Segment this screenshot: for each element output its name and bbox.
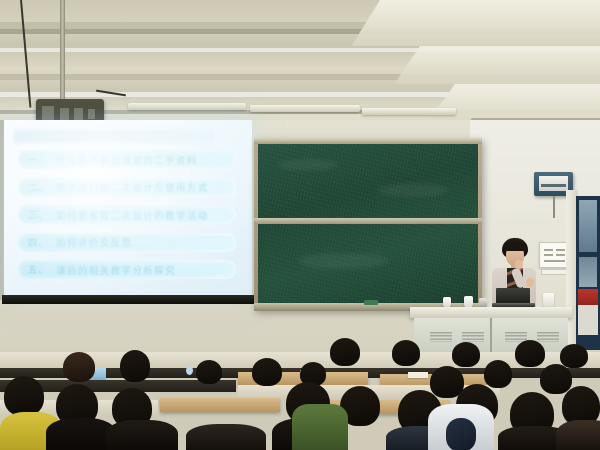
student-head xyxy=(560,344,588,368)
slide-row-text: 如何评价及反思 xyxy=(56,235,236,249)
laptop-screen xyxy=(496,288,530,304)
chalk-smudge xyxy=(378,183,448,197)
student-head xyxy=(392,340,420,366)
slide-row-number: 一、 xyxy=(28,153,48,166)
chalk-smudge xyxy=(298,253,388,269)
ceiling-soffit-right-2 xyxy=(394,46,600,84)
student-head xyxy=(120,350,150,382)
paper-sheet xyxy=(408,372,428,378)
student-head xyxy=(330,338,360,366)
thermos-cup xyxy=(543,293,554,308)
door-window-lower xyxy=(579,257,597,287)
chalkboard-clip xyxy=(364,300,378,305)
slide-row-text: 什么是多参加课堂的二手资料 xyxy=(56,153,236,167)
chalk-ledge xyxy=(254,218,482,224)
slide-row-text: 教学素材的二次设计与使用方式 xyxy=(56,180,236,194)
student-torso xyxy=(106,420,178,450)
wall-notice-poster-secondary xyxy=(541,269,569,275)
slide-row: 一、 什么是多参加课堂的二手资料 xyxy=(18,150,236,169)
slide-row: 二、 教学素材的二次设计与使用方式 xyxy=(18,178,236,197)
presenter-fringe xyxy=(503,242,527,251)
slide-row: 三、 如何更有效二次设计的教学活动 xyxy=(18,205,236,224)
student-head xyxy=(540,364,572,394)
slide-row-number: 二、 xyxy=(28,181,48,194)
slide-row: 五、 课后的相关教学分析探究 xyxy=(18,260,236,279)
speaker-grille xyxy=(541,184,566,187)
student-head xyxy=(4,376,44,416)
slide-title-bar xyxy=(14,130,214,143)
screen-weighted-bottom-bar xyxy=(2,295,254,304)
slide-row-number: 三、 xyxy=(28,208,48,221)
poster-line xyxy=(544,260,565,262)
presenter-hand xyxy=(526,278,534,287)
student-torso xyxy=(186,424,266,450)
slide-row-number: 四、 xyxy=(28,236,48,249)
door-window-upper xyxy=(579,200,597,252)
podium-counter-top xyxy=(410,307,572,318)
projector-vent-1 xyxy=(60,108,69,120)
poster-line xyxy=(544,254,553,256)
student-head xyxy=(484,360,512,388)
cabinet-vent xyxy=(537,332,559,342)
ceiling-soffit-right xyxy=(351,0,600,46)
poster-line xyxy=(556,254,565,256)
door-lower-panel xyxy=(578,305,598,335)
fluorescent-light-tube-2 xyxy=(250,105,360,112)
hair-clip xyxy=(186,366,193,375)
speaker-wire xyxy=(553,196,555,218)
slide-row-text: 如何更有效二次设计的教学活动 xyxy=(56,208,236,222)
presenter-hand-microphone xyxy=(515,260,523,269)
slide-row-number: 五、 xyxy=(28,263,48,276)
chalk-smudge xyxy=(278,159,338,171)
poster-line xyxy=(556,249,565,251)
projector-mount-pole xyxy=(60,0,65,100)
student-head xyxy=(196,360,222,384)
fluorescent-light-tube-1 xyxy=(128,103,246,110)
red-banner xyxy=(578,289,598,305)
chalkboard-top-trim xyxy=(254,138,482,144)
poster-line xyxy=(544,249,553,251)
student-green-jacket xyxy=(292,404,348,450)
projection-screen: 一、 什么是多参加课堂的二手资料 二、 教学素材的二次设计与使用方式 三、 如何… xyxy=(4,120,252,297)
slide-bullet-list: 一、 什么是多参加课堂的二手资料 二、 教学素材的二次设计与使用方式 三、 如何… xyxy=(18,150,236,288)
cabinet-vent xyxy=(430,332,452,342)
student-torso xyxy=(556,420,600,450)
projector-vent-2 xyxy=(74,108,83,120)
student-head xyxy=(452,342,480,367)
slide-row-text: 课后的相关教学分析探究 xyxy=(56,263,236,277)
slide-row: 四、 如何评价及反思 xyxy=(18,233,236,252)
chalkboard-frame xyxy=(254,138,482,310)
cabinet-vent xyxy=(462,332,484,342)
student-backpack-strap xyxy=(446,418,476,450)
projector-vent-3 xyxy=(88,109,95,119)
student-head xyxy=(252,358,282,386)
student-head xyxy=(63,352,95,382)
classroom-photo: 一、 什么是多参加课堂的二手资料 二、 教学素材的二次设计与使用方式 三、 如何… xyxy=(0,0,600,450)
student-desk xyxy=(160,398,280,412)
fluorescent-light-tube-3 xyxy=(362,108,456,115)
student-head xyxy=(515,340,545,367)
